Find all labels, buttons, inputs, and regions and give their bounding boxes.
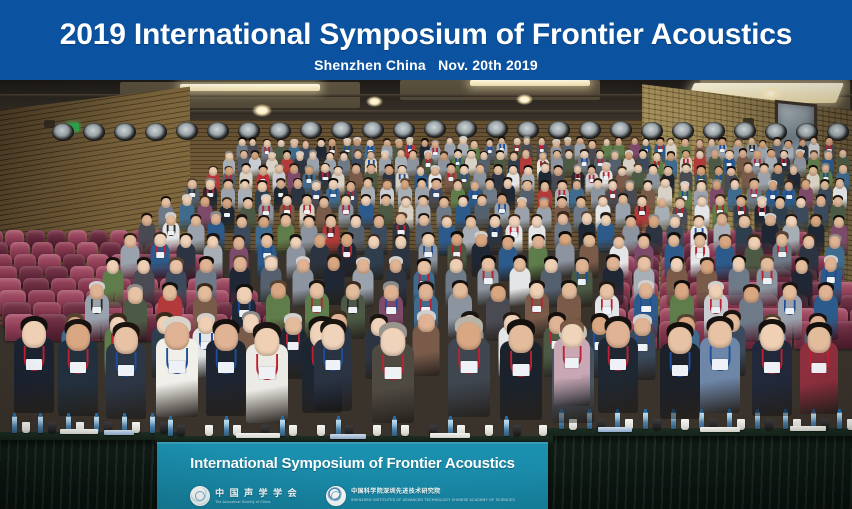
person-head <box>198 286 212 302</box>
person-head <box>760 165 768 174</box>
person-head <box>611 152 618 160</box>
person-head <box>668 327 692 354</box>
person-name-badge <box>491 232 498 237</box>
person-head <box>576 198 585 208</box>
person-head <box>252 152 259 160</box>
person-head <box>125 235 136 248</box>
person-head <box>409 151 416 159</box>
person-head <box>564 139 571 146</box>
document-paper <box>236 433 280 438</box>
person-head <box>314 235 325 248</box>
person-head <box>698 197 707 207</box>
person-head <box>201 197 210 207</box>
person-head <box>384 140 391 147</box>
wall-vent-icon <box>207 122 229 140</box>
asc-logo-chinese: 中 国 声 学 学 会 <box>215 488 298 498</box>
person-head <box>459 197 468 207</box>
person-head <box>397 150 404 158</box>
person-head <box>283 152 290 160</box>
person-head <box>508 325 533 353</box>
person-head <box>727 168 735 177</box>
person-head <box>402 198 411 208</box>
person-name-badge <box>778 252 786 257</box>
drinking-cup <box>160 422 168 433</box>
person-head <box>541 164 549 173</box>
person-name-badge <box>513 364 530 375</box>
person-name-badge <box>70 362 86 373</box>
document-paper <box>790 426 826 431</box>
audience-person <box>106 322 146 426</box>
person-head <box>839 150 846 158</box>
person-name-badge <box>641 306 651 312</box>
person-head <box>744 287 758 303</box>
person-head <box>638 236 649 249</box>
table-skirt-right <box>546 436 852 509</box>
person-head <box>803 236 814 249</box>
wall-vent-icon <box>114 123 136 141</box>
person-head <box>810 138 817 145</box>
water-bottle <box>150 416 155 433</box>
person-head <box>450 259 463 273</box>
person-head <box>639 283 653 299</box>
document-paper <box>60 429 98 434</box>
person-head <box>518 199 527 209</box>
person-head <box>785 141 792 148</box>
person-head <box>667 153 674 161</box>
drinking-cup <box>48 422 56 433</box>
person-head <box>346 284 360 300</box>
person-head <box>671 258 684 272</box>
person-head <box>720 236 731 249</box>
person-name-badge <box>424 252 432 257</box>
person-head <box>471 141 478 148</box>
water-bottle <box>224 419 229 436</box>
water-bottle <box>38 416 43 433</box>
person-head <box>502 237 513 250</box>
document-paper <box>700 427 740 432</box>
person-head <box>291 140 298 147</box>
person-head <box>657 198 666 208</box>
person-name-badge <box>312 306 322 312</box>
document-paper <box>330 434 366 439</box>
ceiling-spotlight <box>252 104 272 117</box>
person-head <box>667 139 674 146</box>
person-head <box>310 283 324 299</box>
audience-person <box>700 316 740 420</box>
person-name-badge <box>343 252 351 257</box>
person-head <box>66 324 90 351</box>
person-head <box>545 259 558 273</box>
person-head <box>182 196 191 206</box>
wall-vent-icon <box>145 123 167 141</box>
person-name-badge <box>712 359 728 370</box>
person-head <box>530 283 544 299</box>
person-head <box>164 322 189 350</box>
person-head <box>137 260 150 274</box>
person-head <box>817 196 826 206</box>
siat-logo-english: SHENZHEN INSTITUTES OF ADVANCED TECHNOLO… <box>351 498 515 503</box>
ceiling-spotlight <box>366 96 383 107</box>
water-bottle <box>392 419 397 436</box>
person-head <box>357 259 370 273</box>
person-head <box>625 152 632 160</box>
person-head <box>290 165 298 174</box>
person-head <box>768 150 775 158</box>
banner-logo-row: 中 国 声 学 学 会 The Acoustical Society of Ch… <box>157 486 548 506</box>
person-head <box>774 165 782 174</box>
person-head <box>510 153 517 161</box>
person-head <box>809 167 817 176</box>
person-head <box>128 287 142 303</box>
person-head <box>114 327 138 354</box>
water-bottle <box>168 419 173 436</box>
person-head <box>460 138 467 145</box>
person-head <box>599 197 608 207</box>
person-name-badge <box>26 359 42 370</box>
person-head <box>480 152 487 160</box>
audience-person <box>58 319 98 423</box>
person-head <box>674 283 688 299</box>
person-name-badge <box>637 344 648 351</box>
audience-person <box>598 316 638 420</box>
person-head <box>701 260 714 274</box>
shenzhen-institute-of-advanced-technology-logo: 中国科学院深圳先进技术研究院 SHENZHEN INSTITUTES OF AD… <box>326 486 515 506</box>
person-head <box>303 141 310 148</box>
person-name-badge <box>785 308 795 314</box>
person-head <box>553 151 560 159</box>
person-head <box>576 259 589 273</box>
person-head <box>839 165 847 174</box>
person-head <box>696 151 703 159</box>
person-name-badge <box>386 307 396 313</box>
person-head <box>240 151 247 159</box>
person-head <box>207 236 218 249</box>
person-head <box>233 237 244 250</box>
person-head <box>106 260 119 274</box>
ceiling-spotlight <box>760 86 782 100</box>
person-head <box>419 197 428 207</box>
person-head <box>162 285 176 301</box>
person-head <box>606 321 630 348</box>
person-head <box>334 167 342 176</box>
person-name-badge <box>811 363 826 373</box>
drinking-cup <box>205 425 213 436</box>
person-head <box>353 165 361 174</box>
person-head <box>268 153 275 161</box>
person-head <box>254 328 279 356</box>
drinking-cup <box>847 419 852 430</box>
page-title: 2019 International Symposium of Frontier… <box>0 18 852 52</box>
siat-logo-chinese: 中国科学院深圳先进技术研究院 <box>351 489 515 496</box>
person-head <box>509 166 517 175</box>
audience-person <box>800 322 838 421</box>
audience-person <box>372 322 414 431</box>
person-head <box>607 257 620 271</box>
person-name-badge <box>499 209 505 213</box>
person-name-badge <box>118 365 134 376</box>
wall-vent-icon <box>393 121 415 139</box>
person-head <box>668 235 679 248</box>
person-name-badge <box>672 365 688 376</box>
person-head <box>417 167 425 176</box>
person-name-badge <box>156 252 164 257</box>
person-head <box>566 151 573 159</box>
person-head <box>749 237 760 250</box>
person-head <box>711 150 718 158</box>
person-head <box>554 167 562 176</box>
ceiling-light-strip <box>470 80 590 86</box>
person-head <box>380 328 405 356</box>
person-head <box>709 284 723 300</box>
person-head <box>210 167 218 176</box>
audience-person <box>554 319 590 413</box>
person-head <box>584 235 595 248</box>
person-head <box>796 151 803 159</box>
asc-logo-english: The Acoustical Society of China <box>215 500 298 505</box>
audience-person <box>156 316 198 425</box>
drinking-cup <box>401 425 409 436</box>
person-head <box>561 324 583 348</box>
person-head <box>226 153 233 161</box>
person-name-badge <box>532 306 542 312</box>
audience-person <box>448 316 490 425</box>
person-head <box>22 321 46 348</box>
person-head <box>634 165 642 174</box>
drinking-cup <box>513 425 521 436</box>
person-name-badge <box>565 358 579 368</box>
person-head <box>759 141 766 148</box>
person-head <box>631 138 638 145</box>
person-head <box>320 198 329 208</box>
person-head <box>468 151 475 159</box>
person-head <box>180 235 191 248</box>
person-head <box>309 152 316 160</box>
person-head <box>696 140 703 147</box>
person-head <box>396 140 403 147</box>
person-head <box>589 141 596 148</box>
person-head <box>553 141 560 148</box>
person-head <box>418 314 434 332</box>
person-head <box>825 152 832 160</box>
person-head <box>265 257 278 271</box>
drinking-cup <box>373 425 381 436</box>
person-head <box>744 164 752 173</box>
person-name-badge <box>224 213 230 217</box>
person-head <box>760 324 784 351</box>
event-banner-panel: International Symposium of Frontier Acou… <box>157 442 548 509</box>
wall-vent-icon <box>269 122 291 140</box>
person-head <box>732 257 745 271</box>
person-head <box>682 139 689 146</box>
siat-seal-icon <box>326 486 346 506</box>
person-head <box>557 198 566 208</box>
person-head <box>774 139 781 146</box>
person-head <box>491 286 505 302</box>
person-head <box>523 138 530 145</box>
person-head <box>482 258 495 272</box>
person-head <box>514 258 527 272</box>
person-head <box>322 324 345 350</box>
wall-vent-icon <box>83 123 105 141</box>
person-head <box>234 257 247 271</box>
person-head <box>829 236 840 249</box>
person-head <box>440 153 447 161</box>
person-head <box>271 283 285 299</box>
person-head <box>708 139 715 146</box>
event-header-banner: 2019 International Symposium of Frontier… <box>0 0 852 80</box>
person-name-badge <box>92 307 102 313</box>
person-head <box>355 151 362 159</box>
wall-vent-icon <box>548 121 570 139</box>
person-head <box>297 259 310 273</box>
person-head <box>390 259 403 273</box>
person-head <box>796 198 805 208</box>
person-head <box>395 236 406 249</box>
person-head <box>419 284 433 300</box>
audience-person <box>206 319 246 423</box>
person-head <box>735 140 742 147</box>
person-name-badge <box>325 360 340 370</box>
person-head <box>834 197 843 207</box>
water-bottle <box>280 419 285 436</box>
person-head <box>200 259 213 273</box>
person-head <box>497 152 504 160</box>
drinking-cup <box>317 425 325 436</box>
drinking-cup <box>539 425 547 436</box>
person-head <box>476 165 484 174</box>
document-paper <box>598 427 632 432</box>
audience-person <box>246 322 288 431</box>
person-head <box>421 140 428 147</box>
table-skirt-left <box>0 440 170 509</box>
person-head <box>540 199 549 209</box>
audience-person <box>660 322 700 426</box>
person-name-badge <box>169 361 186 372</box>
person-head <box>326 153 333 161</box>
person-name-badge <box>610 359 626 370</box>
person-head <box>431 167 439 176</box>
person-head <box>811 152 818 160</box>
person-head <box>418 261 431 275</box>
person-head <box>478 196 487 206</box>
person-head <box>296 153 303 161</box>
person-head <box>618 168 626 177</box>
person-head <box>494 166 502 175</box>
acoustical-society-of-china-logo: 中 国 声 学 学 会 The Acoustical Society of Ch… <box>190 486 298 506</box>
person-head <box>475 234 486 247</box>
person-name-badge <box>461 361 478 372</box>
person-head <box>808 327 831 353</box>
person-head <box>682 165 690 174</box>
person-head <box>327 257 340 271</box>
person-head <box>739 150 746 158</box>
banner-title: International Symposium of Frontier Acou… <box>157 455 548 472</box>
person-head <box>782 285 796 301</box>
water-bottle <box>643 412 648 429</box>
person-head <box>613 237 624 250</box>
person-head <box>664 167 672 176</box>
event-location-date: Shenzhen China Nov. 20th 2019 <box>0 57 852 73</box>
person-head <box>354 139 361 146</box>
wall-vent-icon <box>362 121 384 139</box>
person-head <box>214 324 238 351</box>
water-bottle <box>504 419 509 436</box>
person-head <box>825 257 838 271</box>
document-paper <box>104 430 134 435</box>
group-photograph: International Symposium of Frontier Acou… <box>0 80 852 509</box>
asc-seal-icon <box>190 486 210 506</box>
person-head <box>649 166 657 175</box>
conference-photo-page: 2019 International Symposium of Frontier… <box>0 0 852 509</box>
drinking-cup <box>177 425 185 436</box>
person-head <box>249 139 256 146</box>
person-head <box>239 139 246 146</box>
person-head <box>90 284 104 300</box>
wall-vent-icon <box>455 120 477 138</box>
water-bottle <box>12 416 17 433</box>
document-paper <box>430 433 470 438</box>
person-head <box>559 234 570 247</box>
person-head <box>456 322 481 350</box>
audience-person <box>314 319 352 418</box>
ceiling-spotlight <box>516 94 533 105</box>
person-head <box>615 138 622 145</box>
person-name-badge <box>218 362 234 373</box>
person-head <box>638 257 651 271</box>
person-head <box>368 236 379 249</box>
person-head <box>162 198 171 208</box>
person-head <box>384 285 398 301</box>
drinking-cup <box>485 425 493 436</box>
person-head <box>618 195 627 205</box>
audience-person <box>500 319 542 428</box>
ceiling-light-strip <box>180 84 320 91</box>
person-head <box>340 153 347 161</box>
audience-person <box>413 310 440 380</box>
person-head <box>362 196 371 206</box>
drinking-cup <box>289 425 297 436</box>
drinking-cup <box>22 422 30 433</box>
person-head <box>237 287 251 303</box>
person-head <box>447 138 454 145</box>
person-head <box>318 140 325 147</box>
person-head <box>599 284 613 300</box>
person-head <box>790 166 798 175</box>
wall-vent-icon <box>331 121 353 139</box>
person-head <box>453 283 467 299</box>
person-head <box>761 258 774 272</box>
person-name-badge <box>764 362 780 373</box>
person-name-badge <box>385 367 402 378</box>
person-head <box>275 165 283 174</box>
person-name-badge <box>763 278 771 284</box>
person-torso <box>413 324 440 375</box>
person-name-badge <box>288 342 299 349</box>
person-head <box>533 236 544 249</box>
person-name-badge <box>259 367 276 378</box>
person-head <box>708 321 732 348</box>
person-head <box>382 152 389 160</box>
person-head <box>170 260 183 274</box>
person-head <box>278 140 285 147</box>
audience-person <box>752 319 792 423</box>
person-head <box>776 198 785 208</box>
person-head <box>562 283 576 299</box>
person-head <box>385 166 393 175</box>
person-head <box>577 138 584 145</box>
person-head <box>440 198 449 208</box>
person-head <box>290 237 301 250</box>
